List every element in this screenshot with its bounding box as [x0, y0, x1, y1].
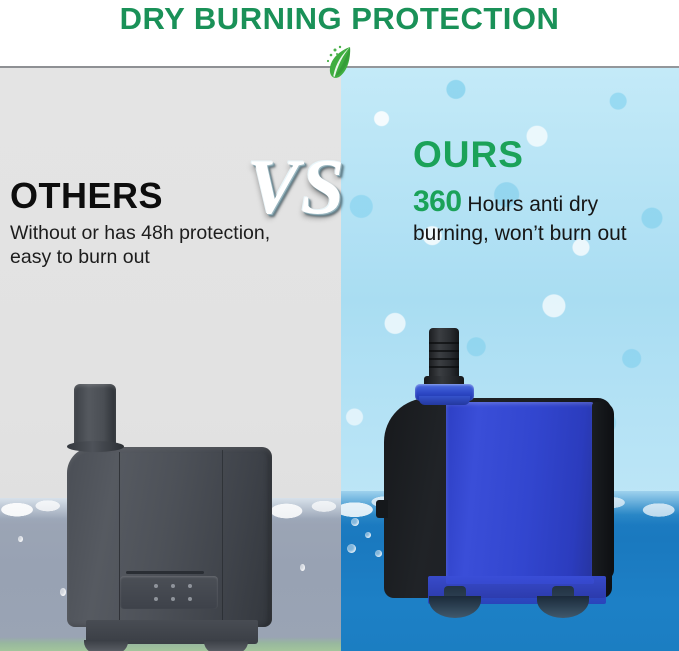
- pump-blue-collar-lower: [419, 396, 470, 405]
- bubble: [300, 564, 305, 571]
- pump-blue-panel: [446, 402, 594, 584]
- ours-highlight-number: 360: [413, 185, 462, 218]
- pump-outlet-nozzle: [429, 328, 459, 380]
- bubble: [351, 518, 359, 526]
- pump-outlet-nozzle: [74, 384, 116, 446]
- ours-description-line1: Hours anti dry: [467, 193, 598, 216]
- pump-suction-cup: [429, 596, 481, 618]
- product-comparison-poster: DRY BURNING PROTECTION: [0, 0, 679, 651]
- pump-slot: [126, 571, 204, 574]
- panel-top-divider: [0, 66, 341, 68]
- ours-description: 360 Hours anti dry burning, won’t burn o…: [413, 184, 679, 246]
- others-description-line2: easy to burn out: [10, 246, 150, 268]
- page-title: DRY BURNING PROTECTION: [120, 1, 560, 37]
- bubble: [365, 532, 371, 538]
- others-pump-image: [62, 384, 282, 651]
- panel-top-divider: [341, 66, 679, 68]
- ours-description-line2: burning, won’t burn out: [413, 222, 627, 245]
- bubble: [18, 536, 23, 542]
- ours-pump-image: [376, 328, 626, 638]
- pump-seam: [222, 450, 223, 626]
- pump-inlet: [376, 500, 388, 518]
- pump-suction-cup: [537, 596, 589, 618]
- others-description-line1: Without or has 48h protection,: [10, 222, 270, 244]
- ours-text-block: OURS 360 Hours anti dry burning, won’t b…: [413, 136, 679, 246]
- pump-rear-edge: [592, 402, 614, 580]
- pump-suction-cup: [204, 640, 248, 651]
- vs-badge: VS: [247, 148, 346, 226]
- bubble: [347, 544, 356, 553]
- ours-heading: OURS: [413, 136, 679, 173]
- pump-vent-dots: [154, 584, 216, 604]
- pump-collar: [67, 441, 124, 452]
- pump-suction-cup: [84, 640, 128, 651]
- ours-panel: OURS 360 Hours anti dry burning, won’t b…: [341, 66, 679, 651]
- leaf-icon: [320, 43, 360, 81]
